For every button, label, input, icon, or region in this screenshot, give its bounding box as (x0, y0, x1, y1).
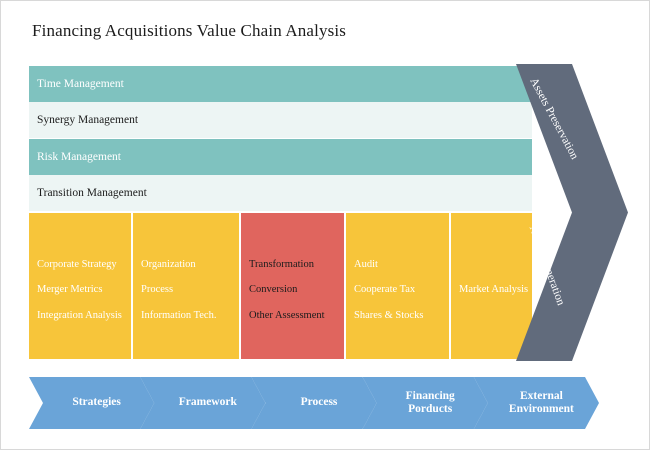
primary-item: Integration Analysis (37, 310, 131, 322)
primary-item: Conversion (249, 284, 344, 296)
stage-label: Financing Porducts (406, 390, 455, 416)
primary-column-strategies[interactable]: Corporate Strategy Merger Metrics Integr… (29, 213, 133, 359)
stage-label-line: Financing (406, 390, 455, 402)
stage-label: External Environment (509, 390, 574, 416)
primary-item: Shares & Stocks (354, 310, 449, 322)
stage-label-line: External (520, 390, 563, 402)
primary-item: Other Assessment (249, 310, 344, 322)
stage-framework[interactable]: Framework (140, 377, 265, 429)
support-band-risk-management[interactable]: Risk Management (29, 139, 532, 175)
primary-column-framework[interactable]: Organization Process Information Tech. (133, 213, 241, 359)
primary-item: Cooperate Tax (354, 284, 449, 296)
stage-label: Framework (179, 396, 237, 409)
primary-item: Audit (354, 259, 449, 271)
chevron-shape-icon (506, 64, 628, 361)
primary-item: Process (141, 284, 239, 296)
support-band-label: Synergy Management (29, 114, 138, 126)
support-band-label: Time Management (29, 78, 124, 90)
primary-item: Merger Metrics (37, 284, 131, 296)
assets-chevron-arrow[interactable]: Assets Preservation Assets Generation (506, 64, 628, 361)
diagram-canvas: Financing Acquisitions Value Chain Analy… (0, 0, 650, 450)
stage-financing-products[interactable]: Financing Porducts (363, 377, 488, 429)
support-band-label: Transition Management (29, 187, 147, 199)
primary-activities-row: Corporate Strategy Merger Metrics Integr… (29, 213, 532, 359)
support-band-synergy-management[interactable]: Synergy Management (29, 102, 532, 138)
primary-item: Organization (141, 259, 239, 271)
primary-column-financing-products[interactable]: Audit Cooperate Tax Shares & Stocks (346, 213, 451, 359)
stage-external-environment[interactable]: External Environment (474, 377, 599, 429)
stage-strategies[interactable]: Strategies (29, 377, 154, 429)
support-band-transition-management[interactable]: Transition Management (29, 175, 532, 211)
primary-column-process[interactable]: Transformation Conversion Other Assessme… (241, 213, 346, 359)
value-chain-stage-strip: Strategies Framework Process Financing P… (29, 377, 599, 429)
primary-item: Corporate Strategy (37, 259, 131, 271)
support-band-time-management[interactable]: Time Management (29, 66, 532, 102)
stage-label: Process (301, 396, 338, 409)
stage-process[interactable]: Process (251, 377, 376, 429)
stage-label-line: Environment (509, 403, 574, 415)
page-title: Financing Acquisitions Value Chain Analy… (32, 21, 346, 41)
primary-item: Transformation (249, 259, 344, 271)
primary-item: Information Tech. (141, 310, 239, 322)
stage-label: Strategies (72, 396, 121, 409)
support-band-label: Risk Management (29, 151, 121, 163)
stage-label-line: Porducts (408, 403, 452, 415)
